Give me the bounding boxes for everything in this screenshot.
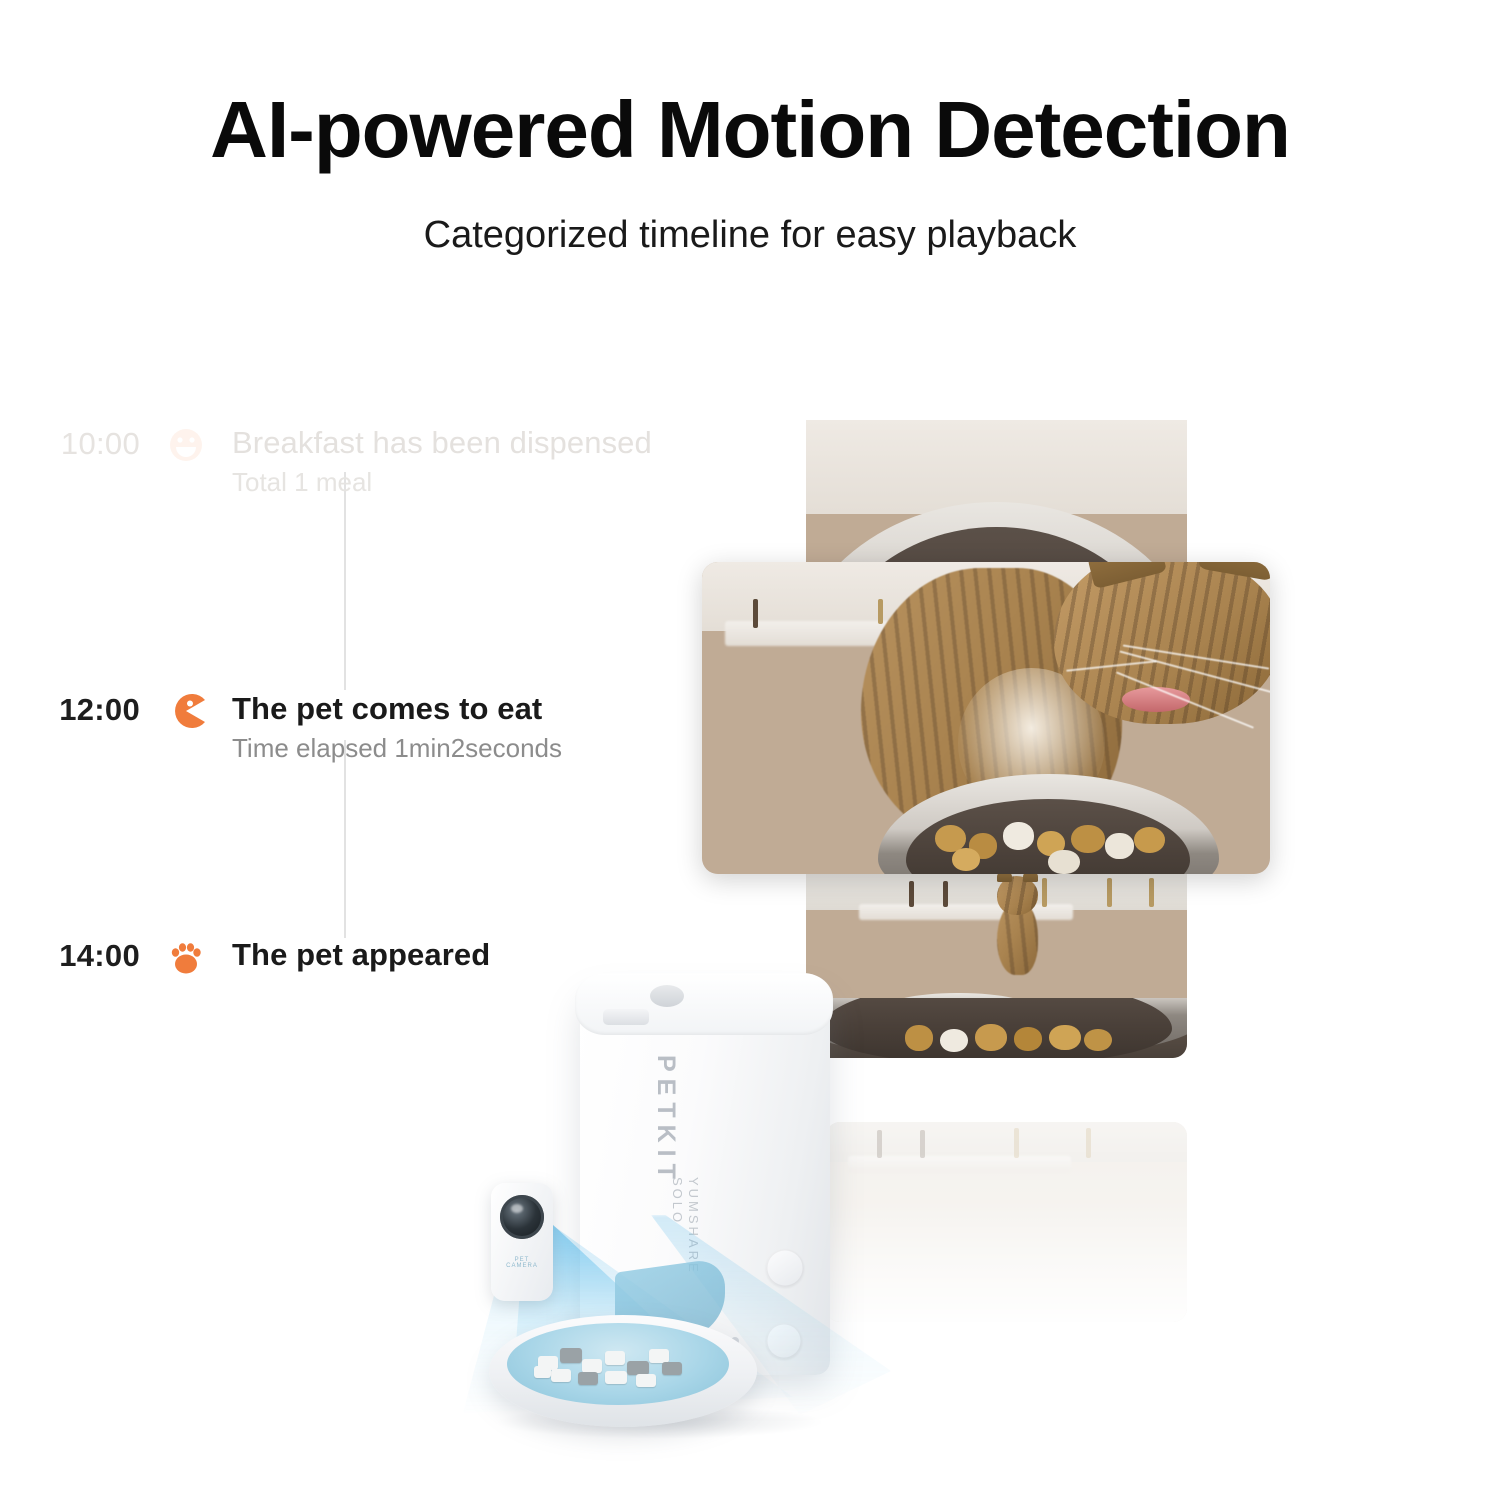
timeline-subtitle: Time elapsed 1min2seconds: [232, 733, 562, 764]
timeline-time: 14:00: [0, 936, 140, 974]
timeline-time: 12:00: [0, 690, 140, 728]
timeline-connector-1: [344, 472, 346, 690]
smiley-face-icon: [165, 424, 207, 466]
timeline-connector-2: [344, 740, 346, 938]
camera-module: PET CAMERA: [491, 1183, 553, 1301]
brand-label: PETKIT: [651, 1055, 680, 1186]
timeline-title: Breakfast has been dispensed: [232, 425, 652, 461]
lid-knob-icon: [650, 985, 684, 1007]
model-label-secondary: SOLO: [670, 1177, 685, 1225]
timeline-title: The pet appeared: [232, 937, 490, 973]
photo-cat-eating-featured[interactable]: [702, 562, 1270, 874]
lid-latch: [603, 1009, 649, 1025]
timeline-time: 10:00: [0, 424, 140, 462]
timeline-subtitle: Total 1 meal: [232, 467, 652, 498]
camera-lens-icon: [500, 1195, 544, 1239]
feeder-feed-button[interactable]: [766, 1249, 804, 1287]
product-device-illustration: PETKIT YUMSHARE SOLO PET CAMERA: [455, 965, 885, 1465]
feeder-bowl-dish: [507, 1323, 729, 1405]
eating-pacman-icon: [165, 690, 207, 732]
paw-print-icon: [165, 936, 207, 978]
timeline-title: The pet comes to eat: [232, 691, 562, 727]
timeline-item-pet-eating[interactable]: 12:00 The pet comes to eat Time elapsed …: [0, 690, 760, 764]
feeder-lid: [575, 973, 833, 1035]
timeline-item-breakfast[interactable]: 10:00 Breakfast has been dispensed Total…: [0, 424, 760, 498]
camera-label: PET CAMERA: [499, 1257, 545, 1269]
